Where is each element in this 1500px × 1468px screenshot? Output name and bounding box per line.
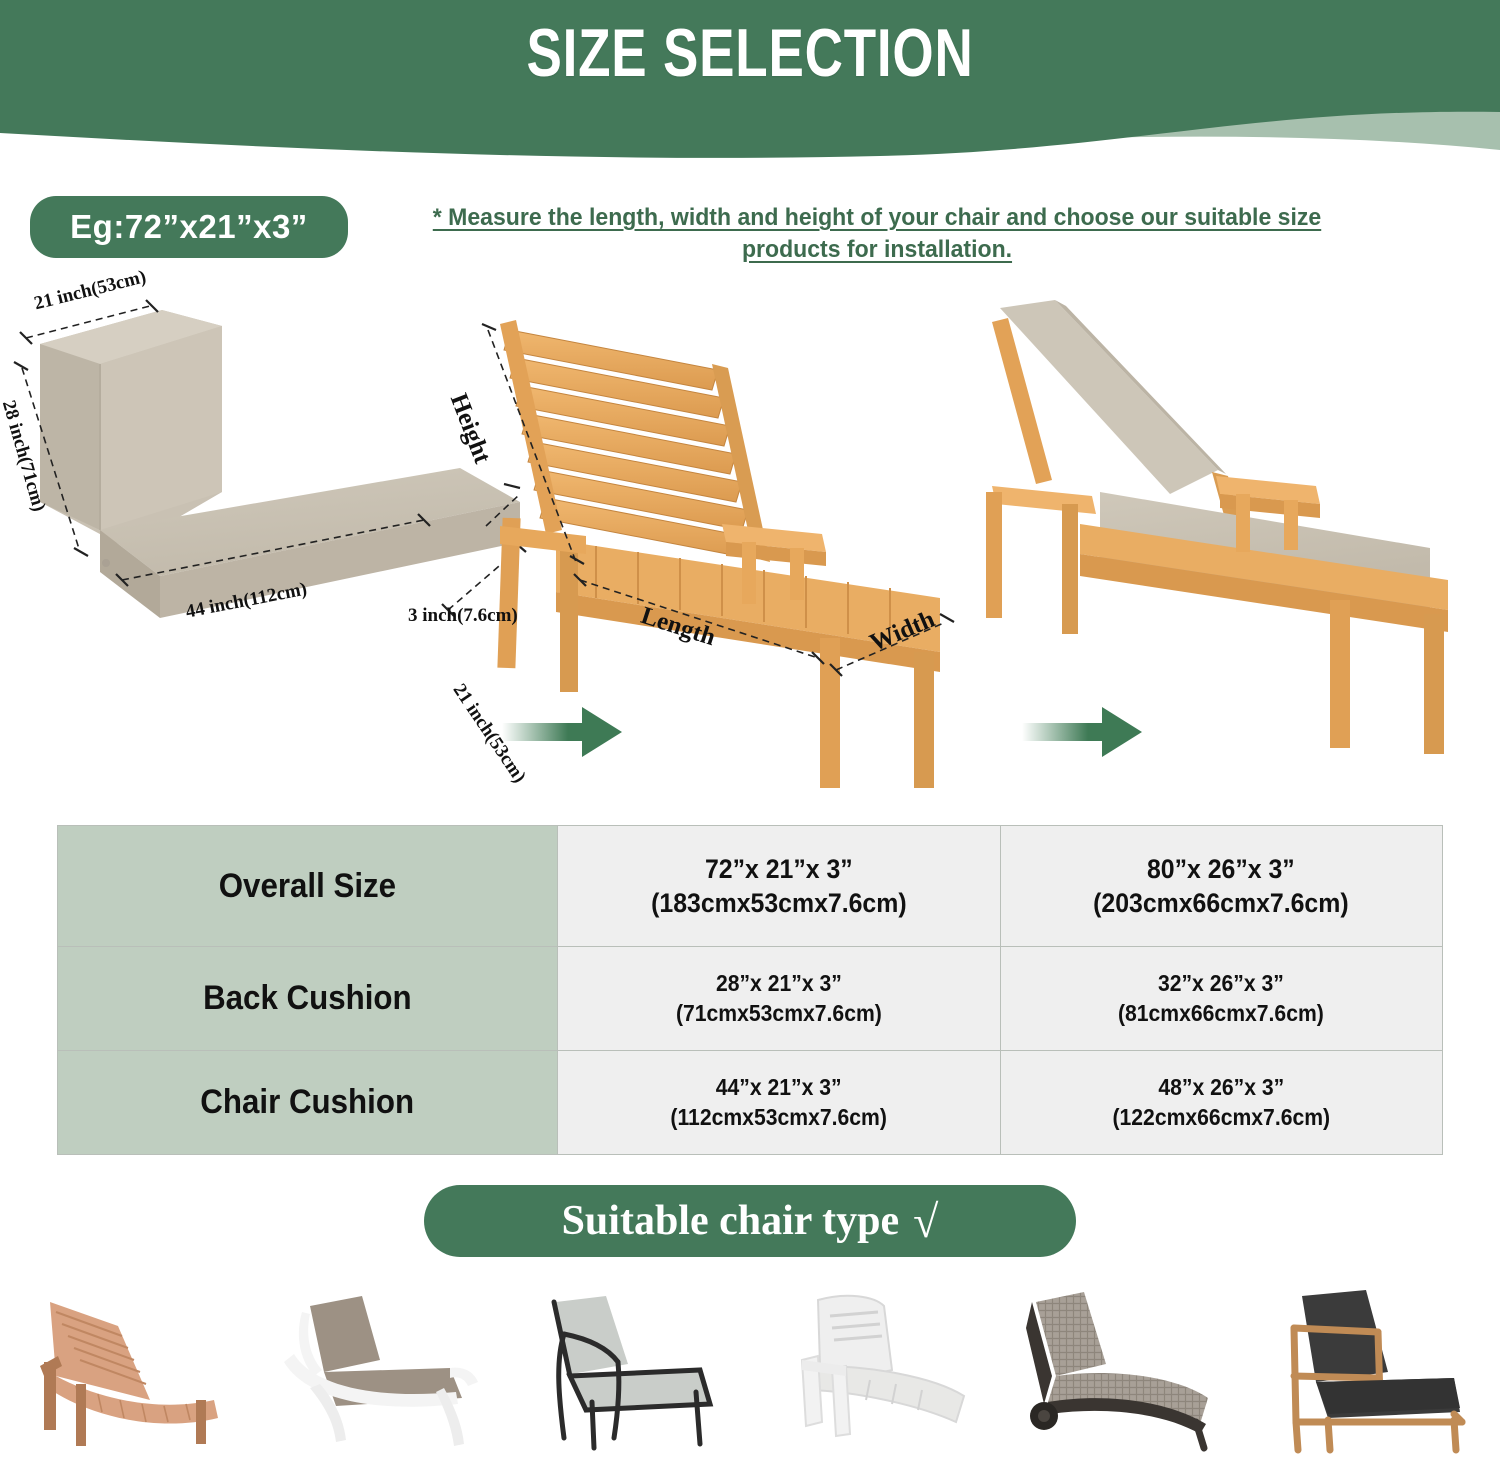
measure-instruction-note: * Measure the length, width and height o… (392, 202, 1362, 266)
arrow-step-2 (1022, 707, 1142, 757)
thumb-rattan-wicker-lounger (1000, 1272, 1250, 1468)
suitable-chair-type-banner: Suitable chair type √ (424, 1185, 1076, 1257)
check-mark-icon: √ (913, 1195, 938, 1248)
thumb-white-aluminum-sling-lounger (250, 1272, 500, 1468)
wood-chair-illustration (482, 320, 954, 788)
row-label-overall-size: Overall Size (58, 826, 558, 947)
cell-overall-size-a: 72”x 21”x 3” (183cmx53cmx7.6cm) (558, 826, 1001, 947)
cell-back-cushion-b: 32”x 26”x 3” (81cmx66cmx7.6cm) (1000, 947, 1443, 1051)
cell-chair-cushion-a: 44”x 21”x 3” (112cmx53cmx7.6cm) (558, 1051, 1001, 1155)
row-label-back-cushion: Back Cushion (58, 947, 558, 1051)
thumb-black-frame-sling-lounger (500, 1272, 750, 1468)
arrow-step-1 (502, 707, 622, 757)
cell-back-cushion-a: 28”x 21”x 3” (71cmx53cmx7.6cm) (558, 947, 1001, 1051)
thumb-white-plastic-lounger (750, 1272, 1000, 1468)
row-label-chair-cushion: Chair Cushion (58, 1051, 558, 1155)
suitable-banner-label: Suitable chair type (562, 1197, 900, 1245)
suitable-chair-thumbnails (0, 1272, 1500, 1468)
table-row: Chair Cushion 44”x 21”x 3” (112cmx53cmx7… (58, 1051, 1443, 1155)
cell-chair-cushion-b: 48”x 26”x 3” (122cmx66cmx7.6cm) (1000, 1051, 1443, 1155)
cell-overall-size-b: 80”x 26”x 3” (203cmx66cmx7.6cm) (1000, 826, 1443, 947)
dimension-illustrations: 21 inch(53cm) 28 inch(71cm) 44 inch(112c… (0, 280, 1500, 790)
table-row: Overall Size 72”x 21”x 3” (183cmx53cmx7.… (58, 826, 1443, 947)
size-spec-table: Overall Size 72”x 21”x 3” (183cmx53cmx7.… (57, 825, 1443, 1155)
thumb-wood-frame-dark-sling-lounger (1250, 1272, 1500, 1468)
chair-with-cushion-illustration (986, 300, 1448, 754)
page-title: SIZE SELECTION (165, 14, 1335, 92)
page-header: SIZE SELECTION (0, 0, 1500, 175)
table-row: Back Cushion 28”x 21”x 3” (71cmx53cmx7.6… (58, 947, 1443, 1051)
cushion-illustration (14, 300, 526, 618)
thumb-wooden-slat-lounger (0, 1272, 250, 1468)
example-size-badge: Eg:72”x21”x3” (30, 196, 348, 258)
cushion-thickness-label: 3 inch(7.6cm) (408, 605, 518, 627)
